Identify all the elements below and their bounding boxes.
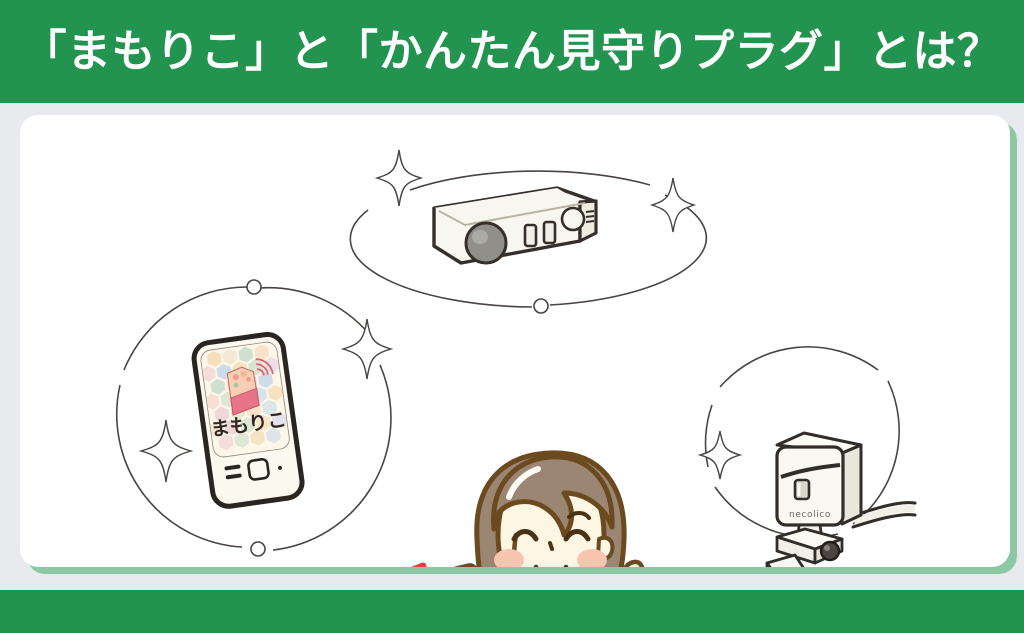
camera-hinge xyxy=(821,542,839,560)
phone-ring-dot xyxy=(247,280,261,294)
motion-line xyxy=(413,566,423,567)
sparkle-icon xyxy=(343,319,391,379)
phone-home-button xyxy=(248,459,269,480)
sparkle-icon xyxy=(377,150,421,206)
phone-app-group: まもりこ xyxy=(117,280,391,556)
hub-button xyxy=(562,208,584,230)
camera-hinge-highlight xyxy=(824,545,830,551)
hub-slot xyxy=(544,222,555,243)
camera-brand-label: necolico xyxy=(789,510,831,520)
hub-front-face xyxy=(434,202,580,263)
phone-ring-arc-top xyxy=(260,288,370,335)
hub-device-group xyxy=(350,150,706,313)
hub-ring-dot xyxy=(534,299,548,313)
camera-device-group: necolico xyxy=(700,347,915,567)
page-header: 「まもりこ」と「かんたん見守りプラグ」とは？ xyxy=(0,0,1024,103)
camera-head-side xyxy=(842,445,861,524)
hub-slot xyxy=(525,225,536,246)
camera-ring-arc-top xyxy=(720,347,878,387)
illustration-card: まもりこ xyxy=(20,115,1010,567)
character-group xyxy=(407,453,650,567)
camera-lens xyxy=(795,480,809,499)
sparkle-icon xyxy=(652,178,694,232)
page-title: 「まもりこ」と「かんたん見守りプラグ」とは？ xyxy=(23,30,1002,74)
illustration-stage: まもりこ xyxy=(20,115,1010,567)
page-footer-bar xyxy=(0,590,1024,633)
hub-lens-highlight xyxy=(472,230,488,244)
sparkle-icon xyxy=(141,420,191,482)
phone-ring-dot xyxy=(251,542,265,556)
character-nose xyxy=(550,543,552,549)
illustration-svg: まもりこ xyxy=(20,115,1010,567)
hub-lens xyxy=(466,223,506,263)
hub-ring-arc-top xyxy=(410,171,650,190)
